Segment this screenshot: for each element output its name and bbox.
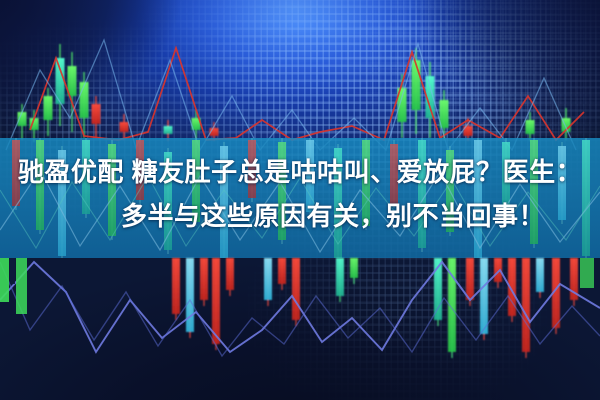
- headline-text: 驰盈优配 糖友肚子总是咕咕叫、爱放屁？医生： 多半与这些原因有关，别不当回事！: [0, 150, 600, 238]
- headline-line-2: 多半与这些原因有关，别不当回事！: [0, 194, 600, 238]
- headline-line-1: 驰盈优配 糖友肚子总是咕咕叫、爱放屁？医生：: [0, 150, 600, 194]
- banner-image: 驰盈优配 糖友肚子总是咕咕叫、爱放屁？医生： 多半与这些原因有关，别不当回事！: [0, 0, 600, 400]
